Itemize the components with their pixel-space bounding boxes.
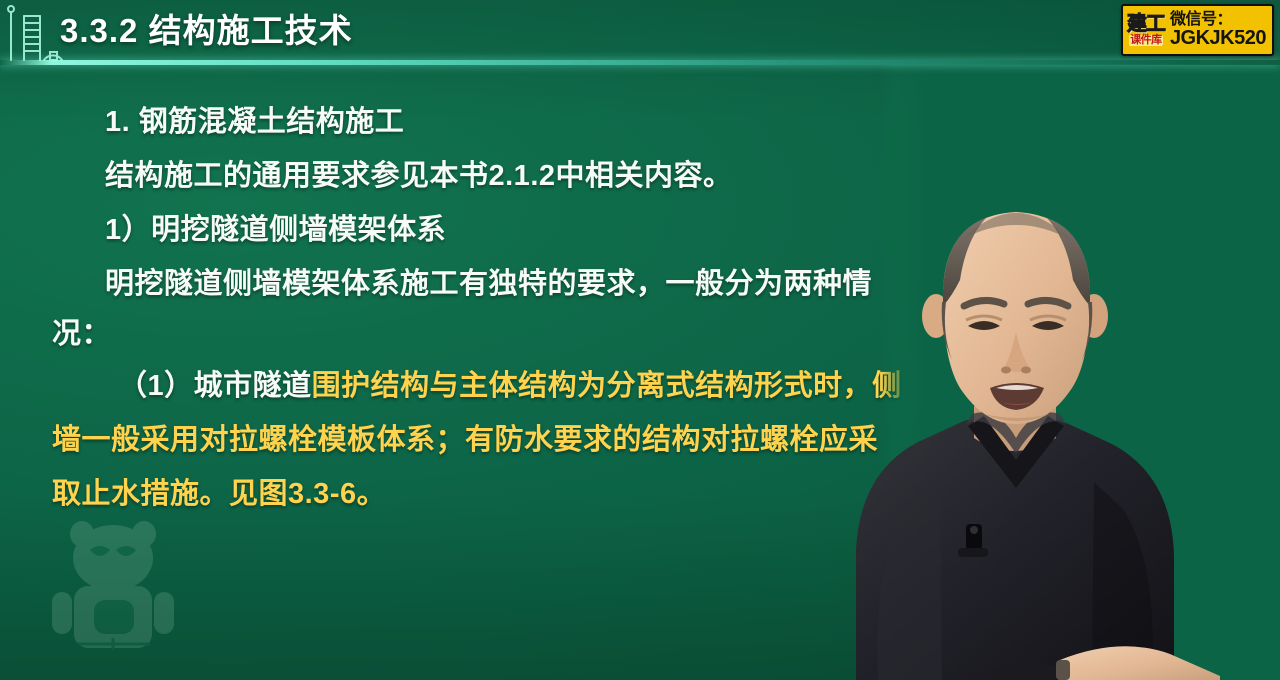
wechat-info: 微信号： JGKJK520 xyxy=(1170,12,1266,49)
slide-header: 3.3.2 结构施工技术 xyxy=(0,0,1280,64)
channel-watermark-badge: 建工 课件库 微信号： JGKJK520 xyxy=(1121,4,1274,56)
brand-logo: 建工 课件库 xyxy=(1127,14,1165,46)
brand-logo-sub: 课件库 xyxy=(1129,35,1163,46)
slide-body: 1. 钢筋混凝土结构施工 结构施工的通用要求参见本书2.1.2中相关内容。 1）… xyxy=(0,64,1280,680)
header-divider xyxy=(0,60,1280,65)
page-title: 3.3.2 结构施工技术 xyxy=(60,6,353,56)
wechat-id: JGKJK520 xyxy=(1170,28,1266,48)
slide-line-highlight: 围护结构与主体结构为分离式结构形式时，侧 xyxy=(312,370,902,402)
slide-stage: 1. 钢筋混凝土结构施工 结构施工的通用要求参见本书2.1.2中相关内容。 1）… xyxy=(0,0,1280,680)
slide-line-prefix: （1）城市隧道 xyxy=(118,370,312,402)
wechat-label: 微信号： xyxy=(1170,12,1266,28)
slide-line-text: 明挖隧道侧墙模架体系施工有独特的要求，一般分为两种情 xyxy=(105,260,872,302)
slide-line-mixed: （1）城市隧道围护结构与主体结构为分离式结构形式时，侧 xyxy=(118,362,902,404)
brand-logo-main: 建工 xyxy=(1127,14,1165,34)
slide-line-highlight: 取止水措施。见图3.3-6。 xyxy=(52,470,386,512)
slide-line-subheading: 1）明挖隧道侧墙模架体系 xyxy=(105,206,446,248)
slide-line-text: 况： xyxy=(52,310,111,352)
tower-icon xyxy=(2,2,64,62)
slide-line-heading: 1. 钢筋混凝土结构施工 xyxy=(105,98,404,140)
slide-line-highlight: 墙一般采用对拉螺栓模板体系；有防水要求的结构对拉螺栓应采 xyxy=(52,416,878,458)
slide-line-text: 结构施工的通用要求参见本书2.1.2中相关内容。 xyxy=(105,152,733,194)
